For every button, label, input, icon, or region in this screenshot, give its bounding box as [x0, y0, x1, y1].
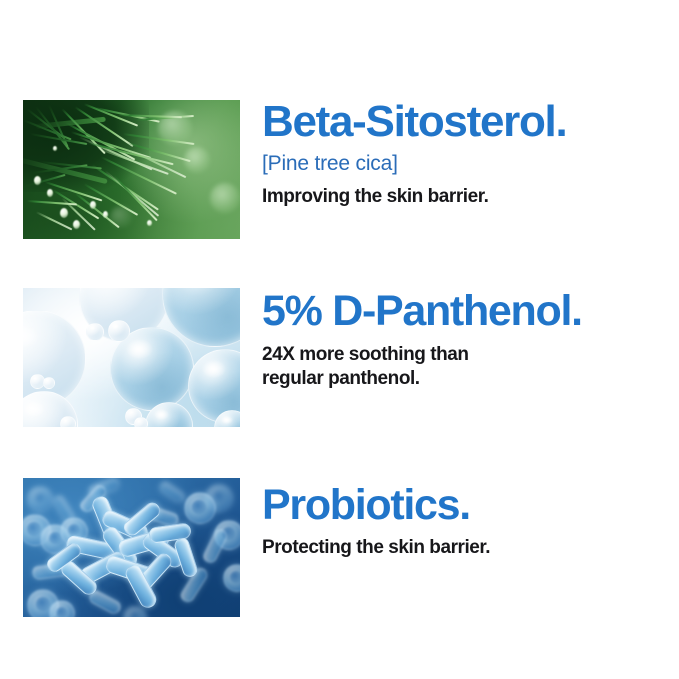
description-line: 24X more soothing than	[262, 343, 672, 367]
ingredient-description: Improving the skin barrier.	[262, 185, 672, 209]
ingredient-heading: Beta-Sitosterol.	[262, 100, 672, 144]
ingredient-copy-d-panthenol: 5% D-Panthenol. 24X more soothing than r…	[262, 288, 672, 391]
description-line: Improving the skin barrier.	[262, 185, 672, 209]
ingredient-copy-probiotics: Probiotics. Protecting the skin barrier.	[262, 478, 672, 560]
ingredient-description: Protecting the skin barrier.	[262, 536, 672, 560]
ingredient-heading: Probiotics.	[262, 484, 672, 527]
pine-needles	[23, 100, 240, 239]
description-line: Protecting the skin barrier.	[262, 536, 672, 560]
pine-branch-photo	[23, 100, 240, 239]
ingredient-heading: 5% D-Panthenol.	[262, 290, 672, 333]
description-line: regular panthenol.	[262, 367, 672, 391]
ingredient-description: 24X more soothing than regular panthenol…	[262, 343, 672, 391]
ingredient-subtitle: [Pine tree cica]	[262, 151, 672, 177]
ingredient-benefits-panel: Beta-Sitosterol. [Pine tree cica] Improv…	[0, 0, 679, 679]
water-bubbles-photo	[23, 288, 240, 427]
probiotic-bacteria-photo	[23, 478, 240, 617]
ingredient-copy-beta-sitosterol: Beta-Sitosterol. [Pine tree cica] Improv…	[262, 100, 672, 209]
